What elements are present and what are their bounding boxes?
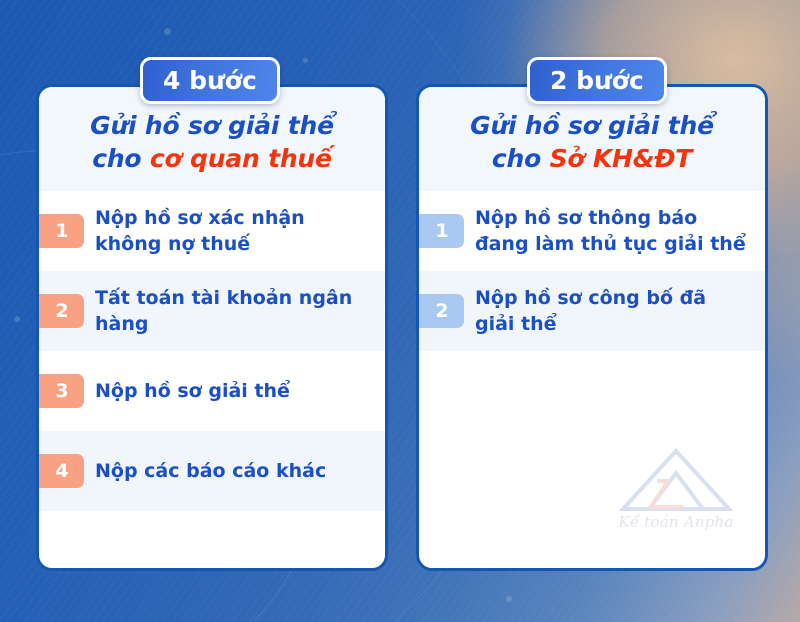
step-label: Tất toán tài khoản ngân hàng	[95, 285, 371, 337]
step-number-badge: 2	[36, 294, 84, 328]
step-label: Nộp hồ sơ giải thể	[95, 378, 290, 404]
watermark-text: Kế toán Anpha	[611, 513, 741, 531]
badge-step-count-left-label: 4 bước	[163, 66, 257, 95]
badge-step-count-right: 2 bước	[527, 57, 667, 104]
card-title-line2-highlight: cơ quan thuế	[150, 144, 332, 173]
step-label: Nộp các báo cáo khác	[95, 458, 326, 484]
step-number-badge: 3	[36, 374, 84, 408]
step-number-badge: 1	[416, 214, 464, 248]
badge-step-count-right-label: 2 bước	[550, 66, 644, 95]
card-title-line2-prefix: cho	[492, 144, 550, 173]
step-item[interactable]: 2 Nộp hồ sơ công bố đã giải thể	[419, 271, 765, 351]
anpha-triangle-icon	[611, 447, 741, 513]
card-tax-authority: Gửi hồ sơ giải thể cho cơ quan thuế 1 Nộ…	[36, 84, 388, 571]
card-title-left: Gửi hồ sơ giải thể cho cơ quan thuế	[55, 109, 369, 175]
card-title-line1: Gửi hồ sơ giải thể	[90, 111, 334, 140]
card-title-line2-highlight: Sở KH&ĐT	[550, 144, 693, 173]
background-dot	[303, 58, 308, 63]
step-label: Nộp hồ sơ xác nhận không nợ thuế	[95, 205, 371, 257]
background-dot	[506, 596, 512, 602]
card-title-line2-prefix: cho	[92, 144, 150, 173]
step-list-left: 1 Nộp hồ sơ xác nhận không nợ thuế 2 Tất…	[39, 191, 385, 511]
step-label: Nộp hồ sơ công bố đã giải thể	[475, 285, 751, 337]
step-item[interactable]: 3 Nộp hồ sơ giải thể	[39, 351, 385, 431]
step-label: Nộp hồ sơ thông báo đang làm thủ tục giả…	[475, 205, 751, 257]
step-list-right: 1 Nộp hồ sơ thông báo đang làm thủ tục g…	[419, 191, 765, 351]
badge-step-count-left: 4 bước	[140, 57, 280, 104]
card-title-line1: Gửi hồ sơ giải thể	[470, 111, 714, 140]
infographic-canvas: Gửi hồ sơ giải thể cho cơ quan thuế 1 Nộ…	[0, 0, 800, 622]
step-item[interactable]: 4 Nộp các báo cáo khác	[39, 431, 385, 511]
step-item[interactable]: 2 Tất toán tài khoản ngân hàng	[39, 271, 385, 351]
step-number-badge: 4	[36, 454, 84, 488]
card-planning-investment: Gửi hồ sơ giải thể cho Sở KH&ĐT 1 Nộp hồ…	[416, 84, 768, 571]
card-title-right: Gửi hồ sơ giải thể cho Sở KH&ĐT	[435, 109, 749, 175]
step-item[interactable]: 1 Nộp hồ sơ thông báo đang làm thủ tục g…	[419, 191, 765, 271]
background-dot	[14, 316, 20, 322]
watermark-logo: Kế toán Anpha	[611, 447, 741, 547]
step-item[interactable]: 1 Nộp hồ sơ xác nhận không nợ thuế	[39, 191, 385, 271]
step-number-badge: 2	[416, 294, 464, 328]
background-dot	[164, 28, 171, 35]
step-number-badge: 1	[36, 214, 84, 248]
